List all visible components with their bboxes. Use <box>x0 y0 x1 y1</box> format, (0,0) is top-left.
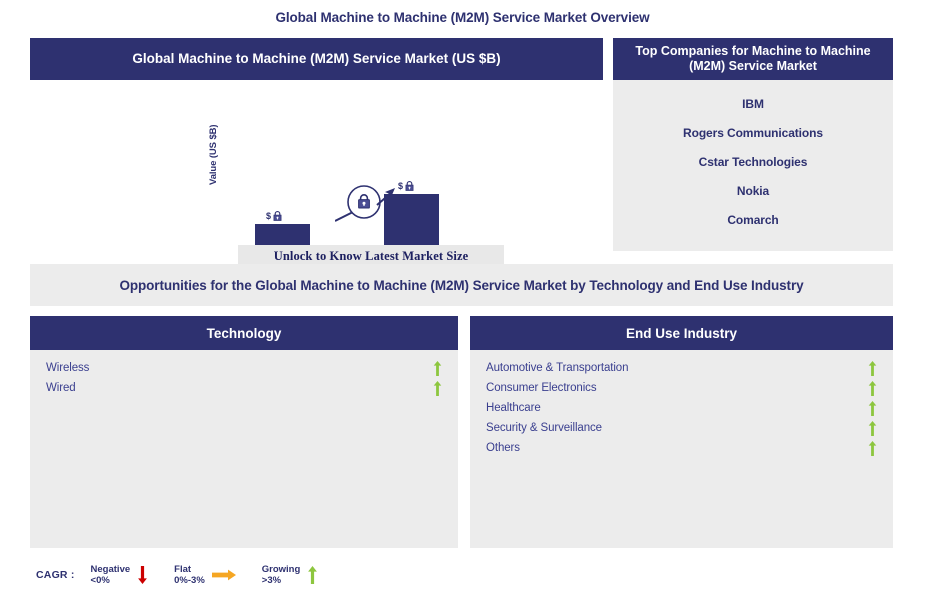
trend-indicator <box>865 381 879 396</box>
technology-panel-list: Wireless Wired <box>30 350 458 398</box>
cagr-legend-growing-range: >3% <box>262 575 301 587</box>
cagr-legend: CAGR : Negative <0% Flat 0%-3% <box>36 560 344 590</box>
list-item: Nokia <box>621 176 885 205</box>
arrow-up-icon <box>868 401 877 416</box>
arrow-up-icon <box>433 361 442 376</box>
market-chart-title: Global Machine to Machine (M2M) Service … <box>30 38 603 80</box>
page-title: Global Machine to Machine (M2M) Service … <box>0 10 925 25</box>
cagr-legend-title: CAGR : <box>36 569 75 581</box>
list-item: Healthcare <box>470 398 893 418</box>
cagr-legend-growing-text: Growing >3% <box>262 564 301 587</box>
top-companies-list: IBM Rogers Communications Cstar Technolo… <box>613 80 893 234</box>
list-item: Comarch <box>621 205 885 234</box>
list-item: Cstar Technologies <box>621 147 885 176</box>
arrow-up-icon-wrap <box>307 566 318 584</box>
cagr-legend-flat: Flat 0%-3% <box>174 564 250 587</box>
technology-item-label: Wired <box>46 380 76 397</box>
trend-indicator <box>865 401 879 416</box>
arrow-up-icon <box>868 421 877 436</box>
list-item: Rogers Communications <box>621 118 885 147</box>
top-companies-card: Top Companies for Machine to Machine (M2… <box>613 38 893 251</box>
arrow-up-icon <box>307 566 318 584</box>
trend-indicator <box>865 421 879 436</box>
trend-indicator <box>865 361 879 376</box>
industry-item-label: Healthcare <box>486 400 541 417</box>
locked-growth-callout <box>335 181 405 227</box>
cagr-legend-negative-label: Negative <box>91 564 131 576</box>
trend-indicator <box>865 441 879 456</box>
arrow-down-icon-wrap <box>137 566 148 584</box>
cagr-legend-flat-range: 0%-3% <box>174 575 205 587</box>
cagr-legend-growing: Growing >3% <box>262 564 333 587</box>
list-item: Others <box>470 438 893 458</box>
industry-item-label: Security & Surveillance <box>486 420 602 437</box>
market-overview-page: Global Machine to Machine (M2M) Service … <box>0 0 925 601</box>
lock-icon <box>405 181 414 191</box>
end-use-industry-panel-list: Automotive & Transportation Consumer Ele… <box>470 350 893 458</box>
trend-indicator <box>430 381 444 396</box>
end-use-industry-panel: End Use Industry Automotive & Transporta… <box>470 316 893 548</box>
lock-icon <box>273 211 282 221</box>
arrow-up-icon <box>433 381 442 396</box>
arrow-up-icon <box>868 361 877 376</box>
arrow-right-icon <box>212 569 236 581</box>
technology-panel-title: Technology <box>30 316 458 350</box>
industry-item-label: Others <box>486 440 520 457</box>
chart-bar-1-value-label: $ <box>266 211 282 221</box>
list-item: Automotive & Transportation <box>470 358 893 378</box>
cagr-legend-flat-label: Flat <box>174 564 205 576</box>
cagr-legend-growing-label: Growing <box>262 564 301 576</box>
dollar-sign: $ <box>266 211 271 221</box>
list-item: Consumer Electronics <box>470 378 893 398</box>
technology-item-label: Wireless <box>46 360 89 377</box>
arrow-up-icon <box>868 441 877 456</box>
trend-indicator <box>430 361 444 376</box>
list-item: IBM <box>621 89 885 118</box>
list-item: Security & Surveillance <box>470 418 893 438</box>
cagr-legend-negative-range: <0% <box>91 575 131 587</box>
arrow-right-icon-wrap <box>212 569 236 581</box>
industry-item-label: Automotive & Transportation <box>486 360 628 377</box>
market-chart-body: Value (US $B) $ $ <box>30 80 603 251</box>
chart-y-axis-label: Value (US $B) <box>208 125 219 185</box>
end-use-industry-panel-title: End Use Industry <box>470 316 893 350</box>
opportunities-banner: Opportunities for the Global Machine to … <box>30 264 893 306</box>
list-item: Wireless <box>30 358 458 378</box>
market-chart-card: Global Machine to Machine (M2M) Service … <box>30 38 603 251</box>
cagr-legend-negative: Negative <0% <box>91 564 163 587</box>
cagr-legend-flat-text: Flat 0%-3% <box>174 564 205 587</box>
list-item: Wired <box>30 378 458 398</box>
top-companies-title: Top Companies for Machine to Machine (M2… <box>613 38 893 80</box>
arrow-up-icon <box>868 381 877 396</box>
cagr-legend-negative-text: Negative <0% <box>91 564 131 587</box>
industry-item-label: Consumer Electronics <box>486 380 597 397</box>
technology-panel: Technology Wireless Wired <box>30 316 458 548</box>
arrow-down-icon <box>137 566 148 584</box>
